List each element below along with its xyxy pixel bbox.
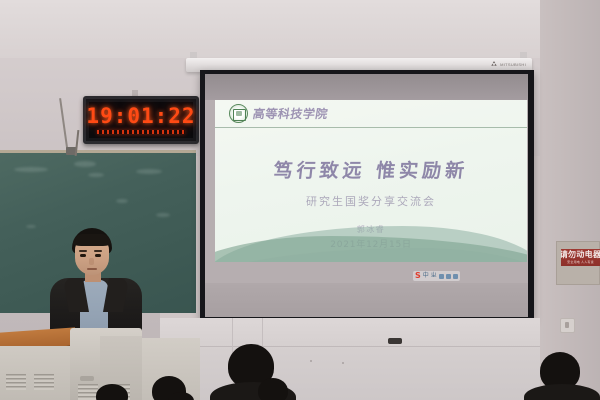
mitsubishi-logo: MITSUBISHI <box>490 61 526 68</box>
ime-shape-toggle[interactable]: ㄓ <box>431 273 437 279</box>
ime-settings-icon[interactable] <box>446 274 451 279</box>
warning-sign-text: 请勿动电器 <box>561 251 600 259</box>
wall-fixture <box>388 338 402 344</box>
presenter-eye-right <box>95 254 101 257</box>
ime-toolbox-icon[interactable] <box>453 274 458 279</box>
projector-screen-frame: 高等科技学院 笃行致远 惟实励新 研究生国奖分享交流会 郭冰睿 2021年12月… <box>200 70 534 320</box>
ime-toolbar[interactable]: S 中 ㄓ <box>413 271 460 281</box>
wall-mark <box>310 360 312 362</box>
classroom-scene: 19:01:22 MITSUBISHI 高等科技学院 <box>0 0 600 400</box>
clock-face: 19:01:22 <box>89 102 193 138</box>
ime-keyboard-icon[interactable] <box>439 274 444 279</box>
school-seal-icon <box>229 104 248 123</box>
school-name: 高等科技学院 <box>252 105 330 122</box>
ceiling-band <box>0 0 600 58</box>
audience-head <box>258 378 288 400</box>
wall-mark <box>342 362 344 364</box>
clock-time: 19:01:22 <box>86 106 195 127</box>
presenter-eyebrow-left <box>79 250 87 252</box>
presenter-eyebrow-right <box>94 250 102 252</box>
led-wall-clock: 19:01:22 <box>83 96 199 144</box>
right-wall <box>540 0 600 400</box>
cabinet-vent <box>6 374 26 390</box>
lectern-handle[interactable] <box>80 376 94 381</box>
mitsubishi-diamond-icon <box>490 61 498 68</box>
wall-light-switch[interactable] <box>560 318 575 333</box>
roller-brand-text: MITSUBISHI <box>500 62 526 67</box>
ime-mode-chinese[interactable]: 中 <box>423 273 429 279</box>
warning-sign: 请勿动电器 安全用电 人人有责 <box>561 249 600 266</box>
cabinet-vent <box>34 374 54 390</box>
slide-title: 笃行致远 惟实励新 <box>215 156 527 183</box>
presenter-mouth <box>87 268 97 270</box>
clock-indicator-strip <box>97 130 185 134</box>
screen-bottom-shadow <box>205 283 528 317</box>
presenter-fringe <box>73 234 111 246</box>
presenter-eye-left <box>80 254 86 257</box>
presentation-slide: 高等科技学院 笃行致远 惟实励新 研究生国奖分享交流会 郭冰睿 2021年12月… <box>215 100 527 262</box>
wall-panel-seam <box>160 346 540 347</box>
presenter-nose <box>89 258 94 265</box>
slide-header-divider <box>215 127 527 128</box>
cabinet-vent <box>78 384 98 400</box>
screen-top-shadow <box>205 74 528 100</box>
desk-left-cabinet <box>0 346 70 400</box>
sogou-logo-icon[interactable]: S <box>415 272 421 280</box>
warning-sign-subtext: 安全用电 人人有责 <box>567 260 594 264</box>
presenter <box>44 228 152 343</box>
projector-screen-surface: 高等科技学院 笃行致远 惟实励新 研究生国奖分享交流会 郭冰睿 2021年12月… <box>205 74 528 285</box>
slide-subtitle: 研究生国奖分享交流会 <box>215 193 527 209</box>
slide-header: 高等科技学院 <box>215 100 527 127</box>
